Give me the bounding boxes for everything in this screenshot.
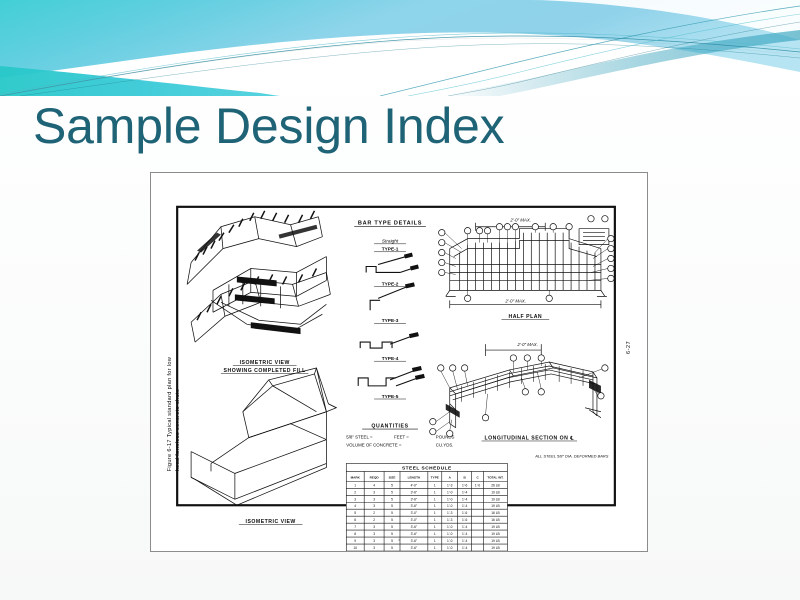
longitudinal-dim-top: 2'-0" MAX. <box>516 342 538 347</box>
longitudinal-label: LONGITUDINAL SECTION ON ℄ <box>485 435 575 442</box>
svg-text:19 LB: 19 LB <box>491 504 500 508</box>
svg-text:1'-4: 1'-4 <box>462 525 468 529</box>
svg-text:7: 7 <box>354 525 356 529</box>
header-wave-banner <box>0 0 800 96</box>
quantities-line2-b: CU.YDS. <box>436 443 454 448</box>
drawing-sheet: Figure 6-17 Typical standard plan for lo… <box>151 173 647 551</box>
svg-text:3: 3 <box>373 532 375 536</box>
svg-text:1: 1 <box>434 490 436 494</box>
col-mark: MARK <box>351 475 361 479</box>
svg-text:1'-0: 1'-0 <box>447 525 453 529</box>
svg-text:1'-0: 1'-0 <box>447 532 453 536</box>
svg-text:1'-6: 1'-6 <box>462 518 468 522</box>
slide-title: Sample Design Index <box>33 96 504 156</box>
isometric-fill-label-2: SHOWING COMPLETED FILL <box>224 368 306 374</box>
presentation-slide: Sample Design Index Figure 6-17 Typical … <box>0 0 800 600</box>
svg-text:5: 5 <box>354 511 356 515</box>
svg-text:6-27: 6-27 <box>626 341 632 354</box>
figure-caption-line: Figure 6-17 Typical standard plan for lo… <box>167 356 173 471</box>
half-plan-dim-bottom: 2'-0" MAX. <box>504 298 526 303</box>
drawing-note-right: ALL STEEL 5/8" DIA. DEFORMED BARS <box>534 453 609 458</box>
svg-text:3'-6": 3'-6" <box>411 532 418 536</box>
svg-text:3: 3 <box>354 497 356 501</box>
bar-type-heading: BAR TYPE DETAILS <box>358 221 422 227</box>
svg-text:1: 1 <box>434 483 436 487</box>
svg-text:3: 3 <box>373 504 375 508</box>
svg-text:5: 5 <box>391 504 393 508</box>
svg-text:1: 1 <box>434 497 436 501</box>
svg-text:3'-0": 3'-0" <box>411 518 418 522</box>
svg-text:1'-3: 1'-3 <box>447 483 453 487</box>
svg-text:5: 5 <box>391 490 393 494</box>
svg-text:1'-3: 1'-3 <box>447 518 453 522</box>
col-size: SIZE <box>389 475 396 479</box>
col-total: TOTAL WT. <box>487 475 503 479</box>
svg-text:3: 3 <box>373 525 375 529</box>
svg-text:3'-6": 3'-6" <box>411 525 418 529</box>
svg-text:19 LB: 19 LB <box>491 525 500 529</box>
svg-text:19 LB: 19 LB <box>491 532 500 536</box>
svg-text:5: 5 <box>391 511 393 515</box>
svg-text:26 LB: 26 LB <box>491 483 500 487</box>
svg-text:4: 4 <box>373 483 375 487</box>
svg-text:1: 1 <box>434 525 436 529</box>
svg-text:19 LB: 19 LB <box>491 539 500 543</box>
svg-text:5: 5 <box>391 546 393 550</box>
svg-text:1'-0: 1'-0 <box>447 490 453 494</box>
svg-text:1'-4: 1'-4 <box>462 504 468 508</box>
svg-text:3: 3 <box>373 539 375 543</box>
svg-text:1'-0: 1'-0 <box>447 504 453 508</box>
svg-text:19 LB: 19 LB <box>491 490 500 494</box>
svg-text:1: 1 <box>434 546 436 550</box>
svg-text:1'-0: 1'-0 <box>447 497 453 501</box>
quantities-line1-a: 5/8" STEEL = <box>346 435 373 440</box>
quantities-line1-b: FEET = <box>394 435 409 440</box>
svg-text:5: 5 <box>391 532 393 536</box>
svg-text:1'-4: 1'-4 <box>462 539 468 543</box>
svg-text:1: 1 <box>354 483 356 487</box>
svg-text:1: 1 <box>434 532 436 536</box>
svg-text:1: 1 <box>434 539 436 543</box>
svg-text:1'-4: 1'-4 <box>462 490 468 494</box>
svg-text:3: 3 <box>373 490 375 494</box>
half-plan-dim-top: 2'-0" MAX. <box>509 218 531 223</box>
svg-text:3'-0": 3'-0" <box>411 511 418 515</box>
svg-text:5: 5 <box>391 483 393 487</box>
svg-text:1: 1 <box>434 504 436 508</box>
steel-schedule-heading: STEEL SCHEDULE <box>402 465 452 471</box>
svg-text:2: 2 <box>354 490 356 494</box>
svg-text:1'-0: 1'-0 <box>447 539 453 543</box>
svg-text:3'-6": 3'-6" <box>411 497 418 501</box>
col-reqd: REQD <box>370 475 380 479</box>
svg-text:2: 2 <box>373 518 375 522</box>
svg-text:19 LB: 19 LB <box>491 546 500 550</box>
col-type: TYPE <box>431 475 439 479</box>
svg-text:6: 6 <box>354 518 356 522</box>
svg-text:3'-6": 3'-6" <box>411 504 418 508</box>
svg-text:4: 4 <box>354 504 356 508</box>
svg-text:5: 5 <box>391 518 393 522</box>
svg-text:1: 1 <box>434 518 436 522</box>
quantities-line2-a: VOLUME OF CONCRETE = <box>346 443 402 448</box>
svg-text:1'-0: 1'-0 <box>447 546 453 550</box>
svg-text:10: 10 <box>353 546 357 550</box>
isometric-fill-label-1: ISOMETRIC VIEW <box>240 360 290 366</box>
col-length: LENGTH <box>408 475 421 479</box>
svg-text:5: 5 <box>391 539 393 543</box>
svg-text:16 LB: 16 LB <box>491 518 500 522</box>
svg-text:1'-0: 1'-0 <box>475 483 481 487</box>
svg-text:16 LB: 16 LB <box>491 511 500 515</box>
svg-text:1'-6: 1'-6 <box>462 483 468 487</box>
svg-text:8: 8 <box>354 532 356 536</box>
svg-text:1'-3: 1'-3 <box>447 511 453 515</box>
svg-text:1'-4: 1'-4 <box>462 546 468 550</box>
svg-text:9: 9 <box>354 539 356 543</box>
svg-text:1'-4: 1'-4 <box>462 497 468 501</box>
svg-text:2: 2 <box>373 511 375 515</box>
isometric-plain-label: ISOMETRIC VIEW <box>246 519 296 525</box>
svg-text:5: 5 <box>391 497 393 501</box>
half-plan-label: HALF PLAN <box>508 314 542 320</box>
svg-text:3: 3 <box>373 546 375 550</box>
svg-text:19 LB: 19 LB <box>491 497 500 501</box>
svg-text:5: 5 <box>391 525 393 529</box>
svg-text:1: 1 <box>434 511 436 515</box>
svg-text:1'-4: 1'-4 <box>462 532 468 536</box>
svg-text:3'-6": 3'-6" <box>411 546 418 550</box>
svg-text:4'-0": 4'-0" <box>411 483 418 487</box>
engineering-drawing-image[interactable]: Figure 6-17 Typical standard plan for lo… <box>150 172 648 552</box>
svg-text:3: 3 <box>373 497 375 501</box>
svg-text:1'-6: 1'-6 <box>462 511 468 515</box>
svg-text:head formless concrete chute: head formless concrete chute <box>175 389 181 472</box>
svg-text:3'-6": 3'-6" <box>411 539 418 543</box>
svg-text:3'-6": 3'-6" <box>411 490 418 494</box>
